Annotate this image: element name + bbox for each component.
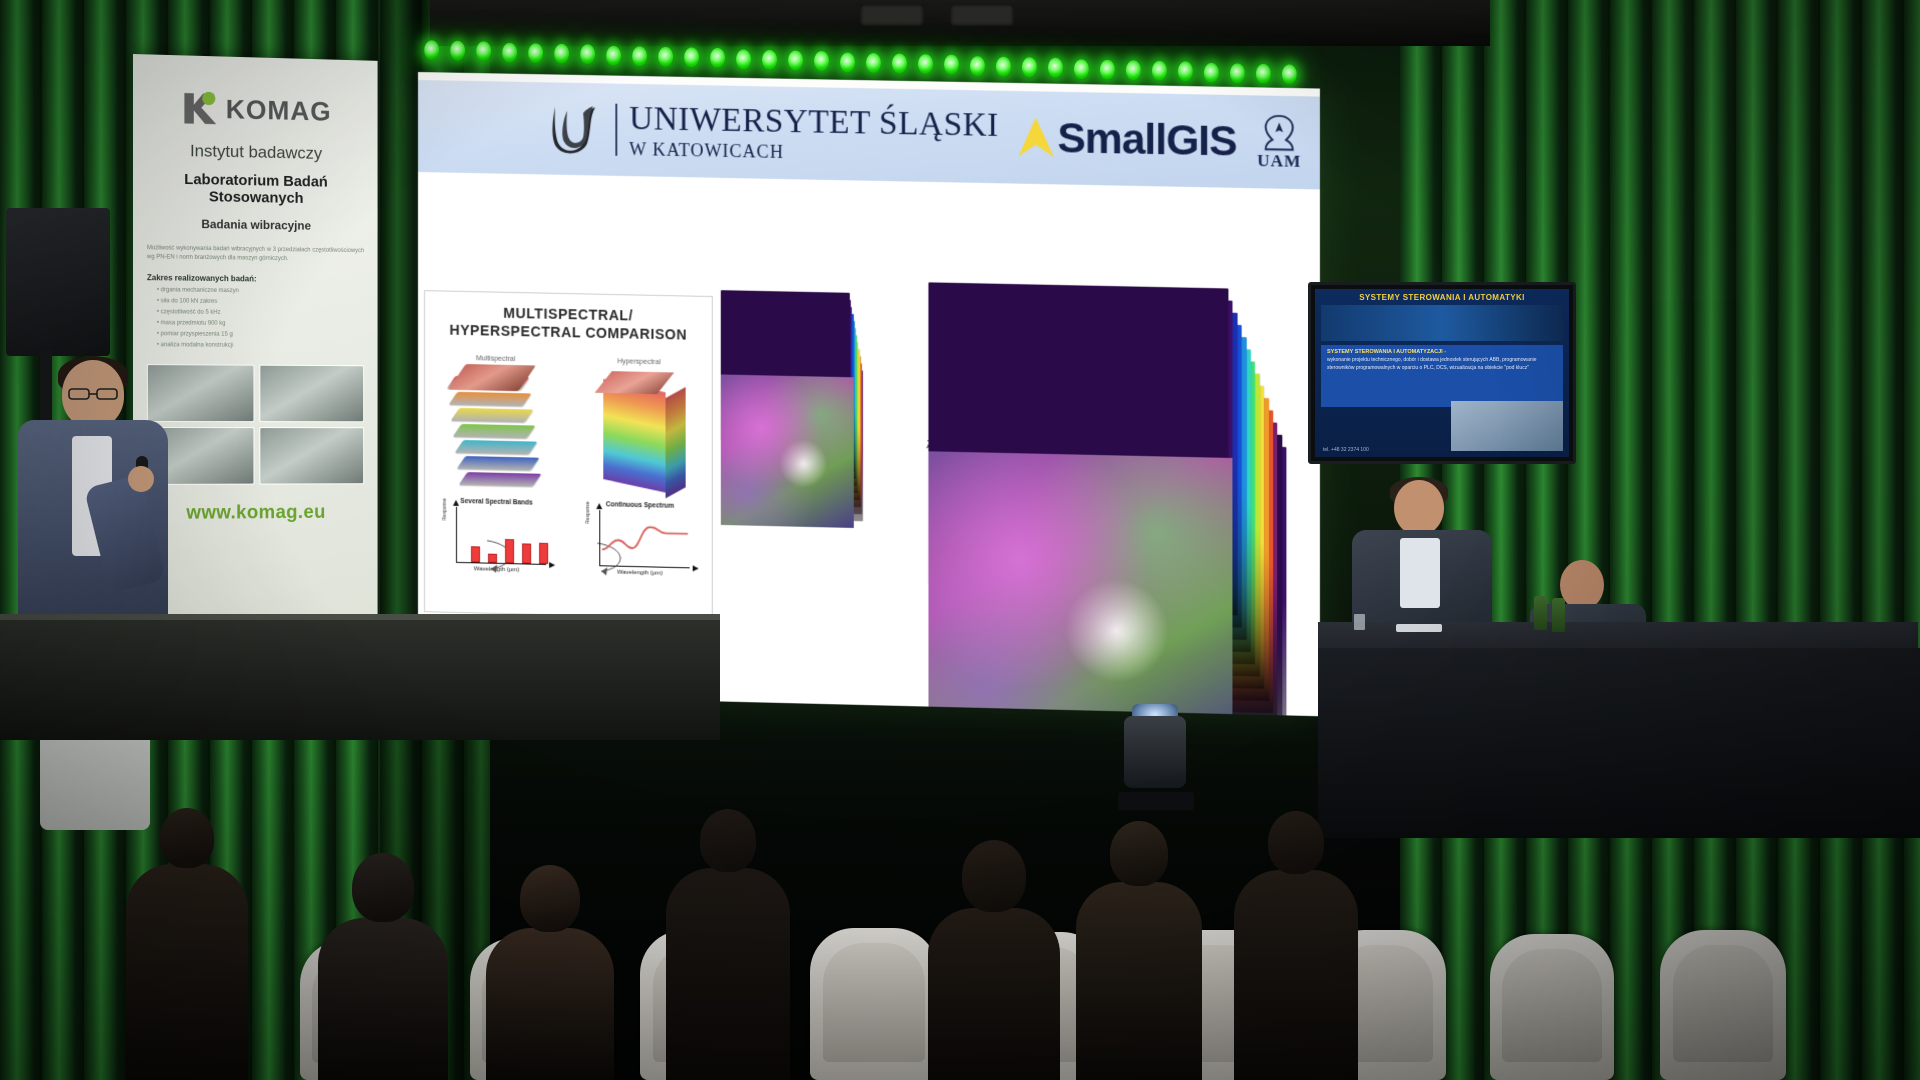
side-monitor-screen: SYSTEMY STEROWANIA I AUTOMATYKI SYSTEMY … [1315, 289, 1569, 457]
led-lamp [1230, 63, 1245, 83]
led-lamp [528, 43, 543, 63]
audience-head [700, 809, 756, 872]
audience-shoulders [928, 908, 1060, 1080]
komag-bullet: • częstotliwość do 5 kHz [147, 309, 364, 317]
rgb-composite-face [721, 374, 854, 528]
university-city: W KATOWICACH [629, 140, 999, 165]
spectral-band-layer [459, 472, 542, 486]
audience-head [160, 808, 214, 868]
komag-bullet: • analiza modalna konstrukcji [147, 342, 364, 349]
side-monitor-title: SYSTEMY STEROWANIA I AUTOMATYKI [1315, 293, 1569, 302]
led-lamp [632, 46, 647, 66]
komag-bullet: • pomiar przyspieszenia 15 g [147, 331, 364, 339]
conference-room-scene: KOMAG Instytut badawczy Laboratorium Bad… [0, 0, 1920, 1080]
led-lamp [736, 49, 751, 69]
led-lamp [762, 50, 777, 70]
komag-url: www.komag.eu [147, 502, 364, 525]
loudspeaker [6, 208, 110, 356]
us-monogram-icon [545, 100, 603, 157]
audience-head [1268, 811, 1324, 874]
led-lamp [814, 51, 829, 71]
drinking-glass [1354, 614, 1365, 630]
side-monitor: SYSTEMY STEROWANIA I AUTOMATYKI SYSTEMY … [1308, 282, 1576, 464]
audience-head [962, 840, 1026, 912]
audience-area [0, 720, 1920, 1080]
audience-head [1110, 821, 1168, 886]
comparison-cubes [425, 365, 712, 499]
spectral-band-bar [488, 553, 497, 563]
komag-section-heading: Zakres realizowanych badań: [147, 273, 364, 284]
side-monitor-footer: tel. +48 32 2374 100 [1323, 447, 1369, 453]
led-lamp [866, 53, 881, 73]
led-lamp [1074, 59, 1089, 79]
audience-head [520, 865, 580, 932]
bar-plot-axes: Response [456, 507, 546, 565]
multispectral-label: Multispectral [476, 355, 515, 363]
spectral-band-bar [471, 546, 480, 562]
plot-several-bands: Several Spectral Bands Response Waveleng… [437, 497, 555, 574]
komag-line2: Laboratorium Badań Stosowanych [147, 170, 364, 208]
comparison-title-line1: MULTISPECTRAL/ [503, 305, 633, 324]
smallgis-brand: SmallGIS [1058, 114, 1237, 166]
led-lamp [424, 40, 439, 60]
logo-divider [615, 104, 617, 156]
cube-side-face [666, 387, 686, 498]
spectral-band-layer [455, 440, 538, 454]
led-lamp [606, 45, 621, 65]
uam-crest-icon [1257, 113, 1302, 154]
multispectral-comparison-panel: MULTISPECTRAL/ HYPERSPECTRAL COMPARISON … [424, 290, 713, 619]
presenter-hand [128, 466, 154, 492]
led-lamp [970, 56, 985, 76]
university-name: UNIWERSYTET ŚLĄSKI [629, 102, 999, 142]
komag-photo-grid [147, 364, 364, 485]
side-monitor-panel-text: wykonanie projektu technicznego, dobór i… [1327, 357, 1557, 372]
hyperspectral-label: Hyperspectral [617, 358, 660, 366]
led-lamp [1256, 64, 1271, 84]
side-monitor-panel-heading: SYSTEMY STEROWANIA I AUTOMATYZACJI - [1327, 349, 1557, 355]
komag-bullet: • siła do 100 kN zakres [147, 298, 364, 306]
plot-ylabel: Response [441, 498, 447, 521]
audience-chair [1660, 930, 1786, 1080]
ceiling [430, 0, 1490, 46]
led-lamp [1152, 61, 1167, 81]
led-lamp [710, 48, 725, 68]
side-monitor-photo [1451, 401, 1563, 451]
led-lamp [476, 41, 491, 61]
led-lamp [450, 41, 465, 61]
comparison-title-line2: HYPERSPECTRAL COMPARISON [449, 321, 687, 342]
led-lamp [684, 47, 699, 67]
university-logo-block: UNIWERSYTET ŚLĄSKI W KATOWICACH [545, 100, 999, 165]
uam-logo-block: UAM [1251, 110, 1308, 174]
hyperspectral-gradient-cube [599, 369, 685, 495]
led-lamp [1048, 58, 1063, 78]
audience-head [352, 853, 414, 922]
audience-shoulders [126, 864, 248, 1080]
satellite-data-cube-large [928, 282, 1305, 716]
panelist-shirt [1400, 538, 1440, 608]
rgb-composite-face [928, 451, 1232, 716]
audience-shoulders [486, 928, 614, 1080]
line-plot-axes: Response [599, 510, 689, 568]
komag-bullet: • drgania mechaniczne maszyn [147, 287, 364, 295]
papers [1396, 624, 1442, 632]
komag-brand: KOMAG [226, 94, 332, 127]
led-lamp [1204, 62, 1219, 82]
spectral-band-bar [522, 543, 531, 564]
slide-header-band: UNIWERSYTET ŚLĄSKI W KATOWICACH SmallGIS [418, 80, 1320, 189]
led-lamp [918, 54, 933, 74]
audience-shoulders [318, 918, 448, 1080]
spectrum-curve [600, 510, 689, 567]
side-monitor-info-panel: SYSTEMY STEROWANIA I AUTOMATYZACJI - wyk… [1321, 345, 1563, 407]
komag-logo-row: KOMAG [147, 88, 364, 131]
uam-label: UAM [1257, 150, 1301, 171]
audience-shoulders [666, 868, 790, 1080]
led-lamp [502, 42, 517, 62]
audience-chair [1490, 934, 1614, 1080]
smallgis-arrow-icon [1015, 114, 1058, 161]
led-lamp [996, 56, 1011, 76]
spectral-band-layer [457, 456, 540, 470]
led-lamp [1126, 60, 1141, 80]
water-bottle [1552, 598, 1565, 632]
panelist-head [1394, 480, 1444, 536]
led-lamp [944, 55, 959, 75]
plot-continuous-spectrum: Continuous Spectrum Response Wavelength … [581, 501, 699, 578]
spectral-band-bar [505, 539, 514, 563]
komag-bullet: • masa przedmiotu 900 kg [147, 320, 364, 328]
komag-line1: Instytut badawczy [147, 140, 364, 164]
komag-photo [259, 427, 364, 484]
led-lamp [1022, 57, 1037, 77]
komag-photo [259, 364, 364, 422]
side-monitor-photo-strip [1321, 305, 1563, 341]
led-lamp [554, 44, 569, 64]
comparison-title: MULTISPECTRAL/ HYPERSPECTRAL COMPARISON [425, 291, 712, 344]
glasses-icon [68, 388, 118, 400]
led-lamp [580, 44, 595, 64]
audience-shoulders [1234, 870, 1358, 1080]
spectral-band-layer [449, 392, 532, 406]
led-lamp [788, 50, 803, 70]
plot-ylabel: Response [585, 501, 591, 524]
led-lamp [1178, 62, 1193, 82]
water-bottle [1534, 596, 1547, 630]
smallgis-logo-block: SmallGIS [1015, 113, 1236, 166]
audience-chair [810, 928, 938, 1080]
led-lamp [1282, 64, 1297, 84]
komag-body-text: Możliwość wykonywania badań wibracyjnych… [147, 244, 364, 265]
led-lamp [658, 47, 673, 67]
komag-bullet-list: • drgania mechaniczne maszyn• siła do 10… [147, 287, 364, 349]
komag-logo-icon [180, 89, 217, 128]
led-lamp [840, 52, 855, 72]
komag-line3: Badania wibracyjne [147, 216, 364, 233]
spectral-band-bar [539, 543, 548, 564]
spectral-band-layer [451, 408, 534, 422]
led-lamp [892, 53, 907, 73]
cube-front-face [603, 379, 665, 493]
satellite-data-cube-small [721, 290, 870, 562]
multispectral-layer-stack [451, 366, 547, 492]
led-lamp [1100, 59, 1115, 79]
spectral-band-layer [453, 424, 536, 438]
audience-shoulders [1076, 882, 1202, 1080]
panelist2-head [1560, 560, 1604, 610]
